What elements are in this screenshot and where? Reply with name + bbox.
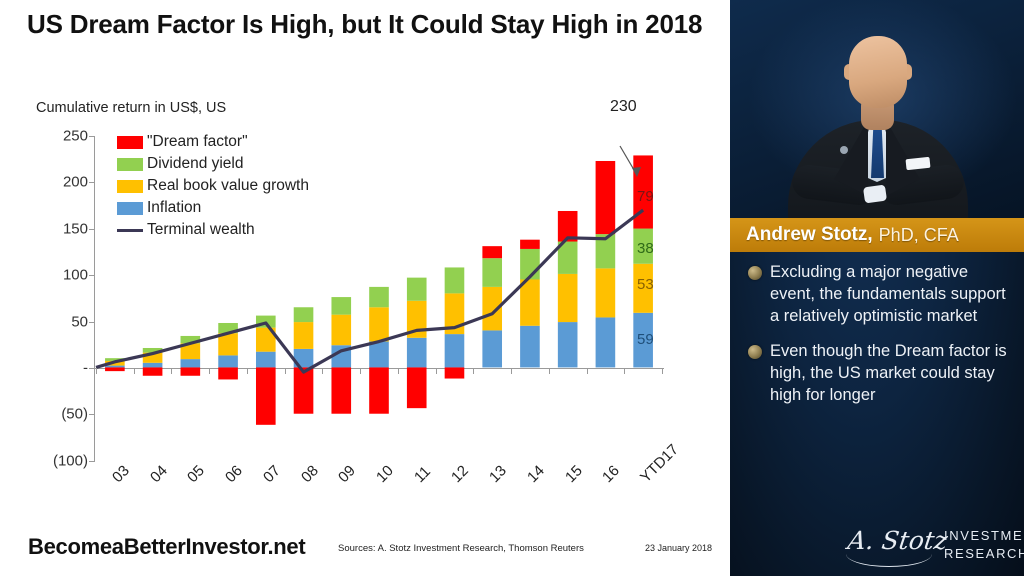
data-label-inflation: 59 (637, 331, 654, 348)
x-axis-label: 06 (222, 462, 246, 486)
x-axis-label: 13 (486, 462, 510, 486)
bar-segment-dream-factor-negative (256, 367, 276, 424)
y-tick-neg50: (50) (32, 406, 88, 423)
portrait-lapel-pin (840, 146, 848, 154)
y-tick-100: 100 (32, 267, 88, 284)
x-axis-label: 12 (448, 462, 472, 486)
bar-segment-inflation (520, 326, 540, 368)
bar-segment-inflation (558, 322, 578, 367)
y-tick-150: 150 (32, 220, 88, 237)
bar-segment-dividend-yield (445, 267, 465, 293)
bar-segment-inflation (143, 363, 163, 368)
portrait-cuff (863, 185, 887, 204)
chart-axis-title: Cumulative return in US$, US (36, 100, 226, 116)
plot-area: 79 38 53 59 (96, 136, 662, 460)
avatar (730, 0, 1024, 218)
slide: US Dream Factor Is High, but It Could St… (0, 0, 1024, 576)
bar-segment-dream-factor-negative (369, 367, 389, 413)
presenter-credentials: PhD, CFA (879, 225, 959, 246)
bar-segment-dream-factor-negative (294, 367, 314, 413)
x-axis-tick (511, 368, 512, 374)
x-axis-label: 08 (298, 462, 322, 486)
x-axis-tick (360, 368, 361, 374)
bar-segment-inflation (407, 338, 427, 368)
chart-panel: US Dream Factor Is High, but It Could St… (0, 0, 730, 576)
data-label-dream-factor: 79 (637, 188, 654, 205)
y-axis-line (94, 136, 95, 461)
bar-segment-inflation (445, 334, 465, 367)
chart-svg (96, 136, 662, 460)
y-tick-neg100: (100) (32, 452, 88, 469)
bar-segment-dream-factor-negative (105, 367, 125, 371)
data-label-real-book-value-growth: 53 (637, 276, 654, 293)
bar-segment-real-book-value-growth (331, 315, 351, 346)
x-axis-tick (285, 368, 286, 374)
logo-swoosh-icon (846, 554, 932, 567)
bar-segment-inflation (482, 330, 502, 367)
bar-series-group (105, 155, 653, 424)
x-axis-tick (134, 368, 135, 374)
x-axis-tick (398, 368, 399, 374)
bar-segment-dividend-yield (369, 287, 389, 307)
x-axis-tick (662, 368, 663, 374)
bar-segment-dividend-yield (482, 258, 502, 287)
x-axis-label: 05 (184, 462, 208, 486)
sidebar: Andrew Stotz, PhD, CFA Excluding a major… (730, 0, 1024, 576)
bar-segment-real-book-value-growth (520, 279, 540, 325)
bar-segment-dividend-yield (407, 278, 427, 301)
x-axis-tick (209, 368, 210, 374)
bar-segment-dream-factor (520, 240, 540, 249)
bar-segment-real-book-value-growth (294, 322, 314, 349)
footer-date: 23 January 2018 (645, 543, 712, 553)
bullet-list: Excluding a major negative event, the fu… (730, 262, 1024, 421)
footer-brand[interactable]: BecomeaBetterInvestor.net (28, 534, 305, 560)
x-axis-tick (322, 368, 323, 374)
portrait-head (849, 36, 907, 108)
bar-segment-dream-factor (482, 246, 502, 258)
y-axis-labels: 250 200 150 100 50 - (50) (100) (30, 136, 88, 460)
bar-segment-real-book-value-growth (369, 307, 389, 341)
bar-segment-inflation (105, 366, 125, 368)
x-axis-label: 09 (335, 462, 359, 486)
bullet-text: Even though the Dream factor is high, th… (770, 341, 1010, 406)
x-axis-tick (624, 368, 625, 374)
bar-segment-dream-factor-negative (331, 367, 351, 413)
company-logo: A. Stotz INVESTMENT RESEARCH (848, 524, 1018, 568)
y-tick-0: - (32, 360, 88, 377)
bar-segment-inflation (256, 352, 276, 368)
bar-segment-inflation (181, 359, 201, 367)
logo-line-2: RESEARCH (944, 546, 1024, 561)
x-axis-label: 10 (373, 462, 397, 486)
x-axis-tick (549, 368, 550, 374)
bullet-text: Excluding a major negative event, the fu… (770, 262, 1010, 327)
bar-segment-dream-factor-negative (407, 367, 427, 408)
y-tick-50: 50 (32, 313, 88, 330)
list-item: Excluding a major negative event, the fu… (744, 262, 1010, 327)
x-axis-tick (436, 368, 437, 374)
logo-line-1: INVESTMENT (944, 528, 1024, 543)
footer-sources: Sources: A. Stotz Investment Research, T… (338, 543, 584, 554)
x-axis-label: 07 (260, 462, 284, 486)
x-axis-tick (96, 368, 97, 374)
bar-segment-dream-factor (596, 161, 616, 234)
x-axis-tick (247, 368, 248, 374)
x-axis-tick (171, 368, 172, 374)
logo-script-text: A. Stotz (846, 526, 949, 555)
y-tick-200: 200 (32, 174, 88, 191)
bullet-dot-icon (748, 266, 762, 280)
bar-segment-dividend-yield (294, 307, 314, 322)
terminal-wealth-annotation: 230 (610, 98, 637, 116)
x-axis-label: 03 (109, 462, 133, 486)
x-axis-label: 04 (147, 462, 171, 486)
bar-segment-dream-factor-negative (445, 367, 465, 378)
bar-segment-dividend-yield (331, 297, 351, 315)
presenter-name: Andrew Stotz, (746, 224, 873, 246)
presenter-name-band: Andrew Stotz, PhD, CFA (730, 218, 1024, 252)
bar-segment-real-book-value-growth (558, 274, 578, 322)
x-axis-tick (473, 368, 474, 374)
x-axis-label: 14 (524, 462, 548, 486)
x-axis-label: 11 (411, 463, 434, 486)
bar-segment-inflation (369, 342, 389, 368)
list-item: Even though the Dream factor is high, th… (744, 341, 1010, 406)
y-tick-250: 250 (32, 128, 88, 145)
x-axis-label: 16 (599, 462, 623, 486)
bullet-dot-icon (748, 345, 762, 359)
data-label-dividend-yield: 38 (637, 240, 654, 257)
page-title: US Dream Factor Is High, but It Could St… (27, 8, 707, 42)
bar-segment-dream-factor-negative (218, 367, 238, 379)
bar-segment-dream-factor-negative (143, 367, 163, 375)
x-axis-tick (587, 368, 588, 374)
bar-segment-real-book-value-growth (596, 268, 616, 317)
bar-segment-inflation (218, 355, 238, 367)
bar-segment-dream-factor-negative (181, 367, 201, 375)
bar-segment-inflation (596, 317, 616, 367)
x-axis-label: 15 (562, 462, 586, 486)
